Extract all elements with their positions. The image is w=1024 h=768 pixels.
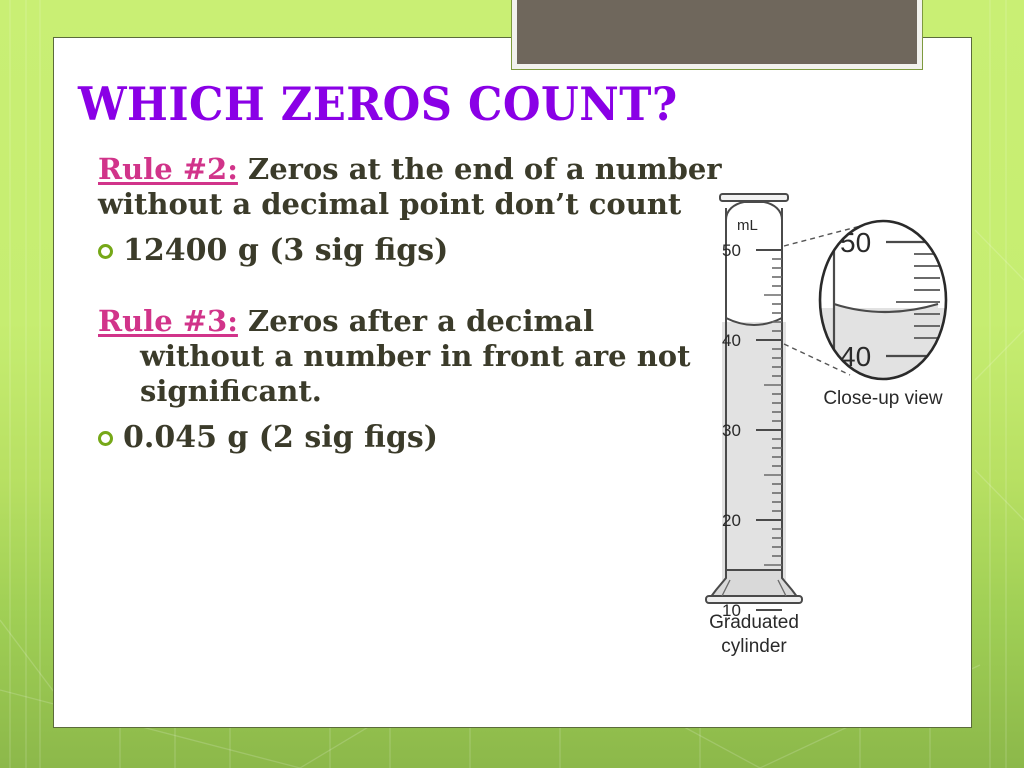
cylinder-tick-label-30: 30: [722, 421, 741, 440]
closeup-tick-label-50: 50: [840, 227, 871, 258]
rule-2-paragraph: Rule #2: Zeros at the end of a number wi…: [98, 152, 723, 222]
rule-3-example-item: 0.045 g (2 sig figs): [98, 419, 723, 457]
cylinder-tick-label-40: 40: [722, 331, 741, 350]
cylinder-unit-label: mL: [737, 217, 758, 234]
body-content: Rule #2: Zeros at the end of a number wi…: [98, 152, 723, 461]
closeup-caption: Close-up view: [823, 388, 943, 409]
page-title: Which Zeros Count?: [78, 78, 830, 130]
rule-2-example-text: 12400 g (3 sig figs): [123, 232, 448, 270]
rule-3-paragraph: Rule #3: Zeros after a decimal without a…: [98, 304, 723, 409]
rule-3-block: Rule #3: Zeros after a decimal without a…: [98, 304, 723, 457]
rule-2-example-item: 12400 g (3 sig figs): [98, 232, 723, 270]
rule-2-block: Rule #2: Zeros at the end of a number wi…: [98, 152, 723, 270]
circle-bullet-icon: [98, 244, 113, 259]
rule-2-label: Rule #2:: [98, 152, 238, 186]
graduated-cylinder-figure: 50 40 30 20 10 mL: [700, 180, 960, 660]
content-placeholder[interactable]: [517, 0, 917, 64]
figure-caption-line2: cylinder: [721, 636, 787, 657]
rule-3-label: Rule #3:: [98, 304, 238, 338]
cylinder-tick-label-20: 20: [722, 511, 741, 530]
slide: Which Zeros Count? Rule #2: Zeros at the…: [0, 0, 1024, 768]
content-placeholder-frame[interactable]: [511, 0, 923, 70]
figure-caption-line1: Graduated: [709, 612, 799, 633]
rule-3-example-text: 0.045 g (2 sig figs): [123, 419, 438, 457]
circle-bullet-icon: [98, 431, 113, 446]
cylinder-tick-label-50: 50: [722, 241, 741, 260]
closeup-tick-label-40: 40: [840, 341, 871, 372]
spacer: [98, 274, 723, 304]
